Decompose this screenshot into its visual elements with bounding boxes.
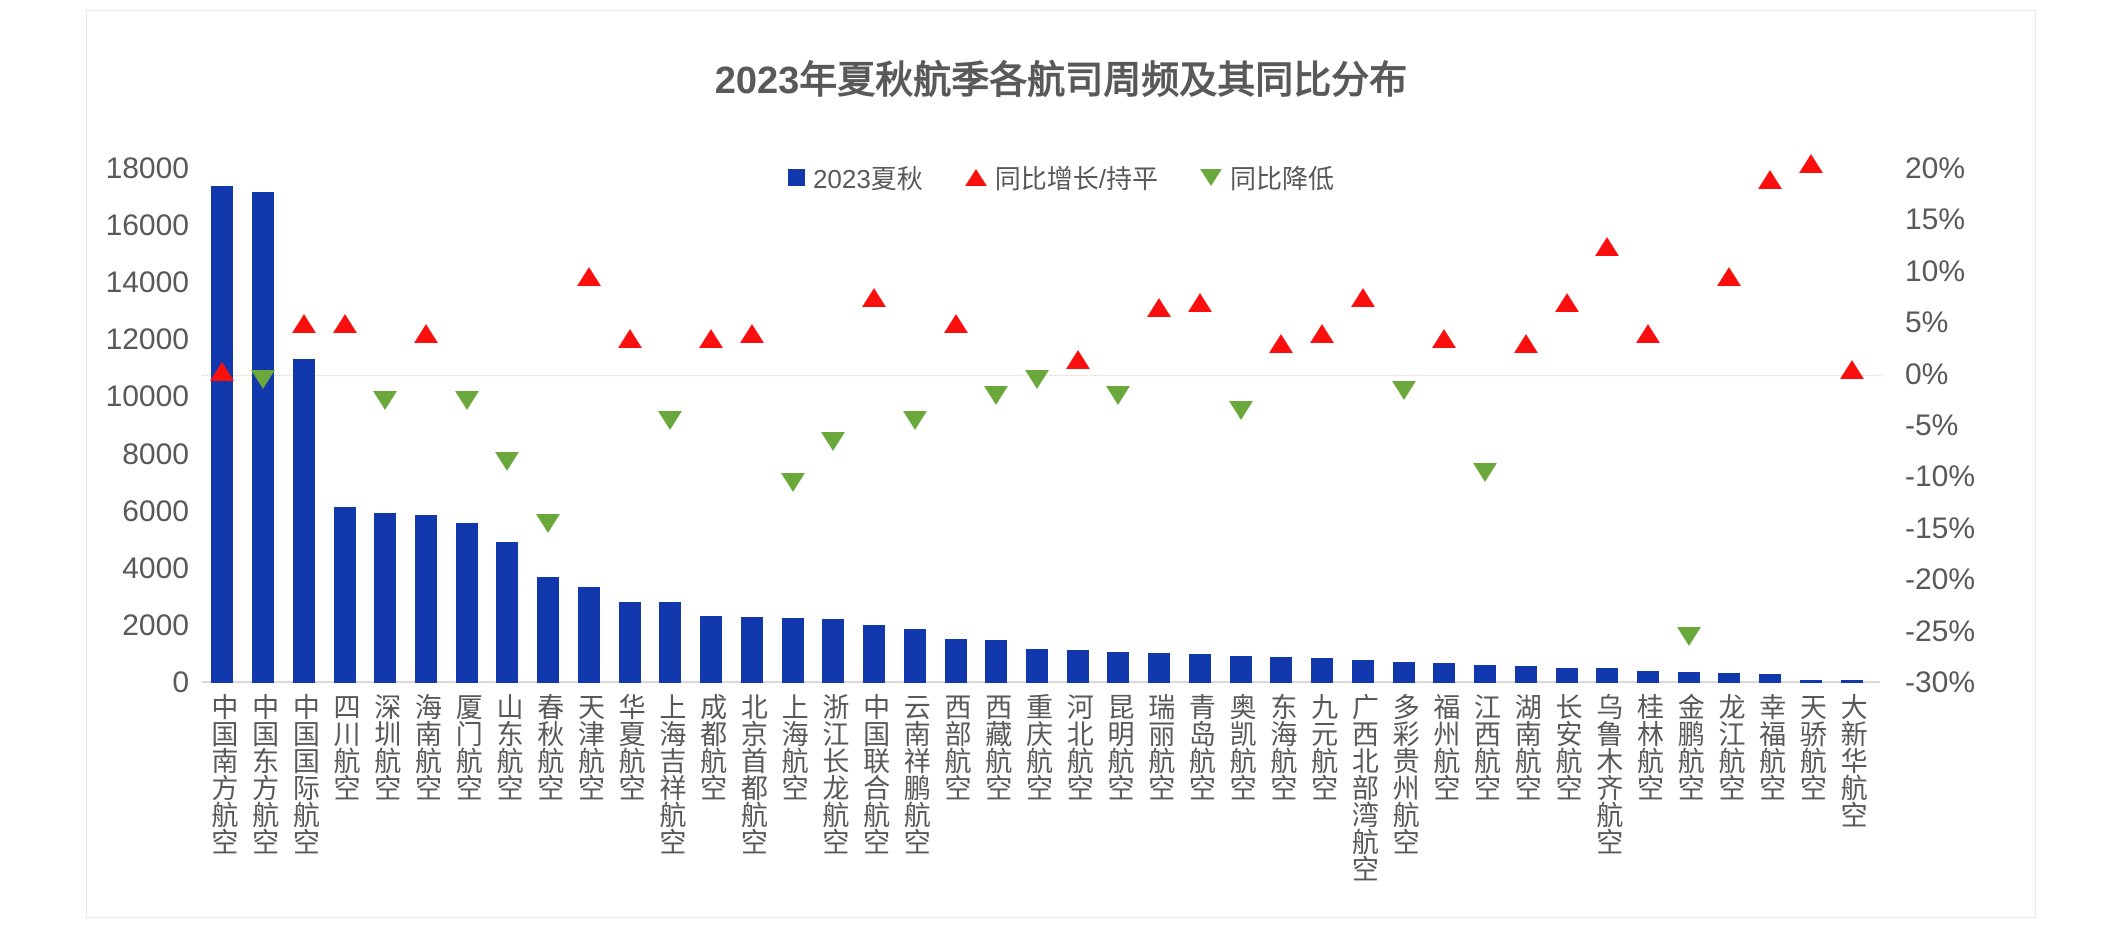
- x-axis-label: 长安航空: [1553, 693, 1580, 801]
- x-axis-label: 上海航空: [779, 693, 806, 801]
- plot-inner: [202, 169, 1872, 683]
- marker-increase[interactable]: [944, 314, 968, 333]
- y-axis-right-tick: -20%: [1905, 563, 1975, 597]
- bar[interactable]: [1800, 680, 1822, 683]
- marker-increase[interactable]: [1188, 293, 1212, 312]
- bar[interactable]: [1841, 680, 1863, 683]
- x-axis-label: 中国国际航空: [290, 693, 317, 855]
- marker-increase[interactable]: [1514, 334, 1538, 353]
- x-axis-label: 中国东方航空: [249, 693, 276, 855]
- y-axis-right-tick: -5%: [1905, 409, 1958, 443]
- marker-increase[interactable]: [1840, 360, 1864, 379]
- x-axis-label: 深圳航空: [371, 693, 398, 801]
- y-axis-right-tick: 15%: [1905, 203, 1965, 237]
- y-axis-right-tick: -30%: [1905, 666, 1975, 700]
- y-axis-left: 1800016000140001200010000800060004000200…: [87, 169, 195, 683]
- marker-decrease[interactable]: [455, 391, 479, 410]
- x-axis-label: 天骄航空: [1797, 693, 1824, 801]
- x-axis-label: 龙江航空: [1715, 693, 1742, 801]
- marker-increase[interactable]: [1066, 350, 1090, 369]
- bar[interactable]: [415, 515, 437, 683]
- x-axis-label: 成都航空: [697, 693, 724, 801]
- x-axis-label: 云南祥鹏航空: [901, 693, 928, 855]
- marker-decrease[interactable]: [658, 411, 682, 430]
- x-axis-label: 乌鲁木齐航空: [1593, 693, 1620, 855]
- bar[interactable]: [782, 618, 804, 683]
- x-axis-label: 幸福航空: [1756, 693, 1783, 801]
- bar[interactable]: [456, 523, 478, 683]
- x-axis-label: 春秋航空: [534, 693, 561, 801]
- x-axis-label: 河北航空: [1064, 693, 1091, 801]
- bar[interactable]: [1107, 652, 1129, 683]
- bar[interactable]: [1311, 658, 1333, 683]
- x-axis-label: 东海航空: [1267, 693, 1294, 801]
- marker-decrease[interactable]: [536, 514, 560, 533]
- bar[interactable]: [700, 616, 722, 683]
- bar[interactable]: [1148, 653, 1170, 683]
- x-axis-label: 瑞丽航空: [1145, 693, 1172, 801]
- marker-decrease[interactable]: [373, 391, 397, 410]
- x-axis-label: 中国南方航空: [208, 693, 235, 855]
- y-axis-right-tick: -10%: [1905, 460, 1975, 494]
- bar[interactable]: [1515, 666, 1537, 683]
- marker-decrease[interactable]: [781, 473, 805, 492]
- bar[interactable]: [578, 587, 600, 683]
- marker-decrease[interactable]: [1025, 370, 1049, 389]
- marker-decrease[interactable]: [984, 386, 1008, 405]
- bar[interactable]: [1759, 674, 1781, 683]
- marker-increase[interactable]: [1432, 329, 1456, 348]
- x-axis-label: 广西北部湾航空: [1349, 693, 1376, 882]
- x-axis-label: 北京首都航空: [738, 693, 765, 855]
- bar[interactable]: [1352, 660, 1374, 683]
- marker-increase[interactable]: [1595, 237, 1619, 256]
- marker-increase[interactable]: [1269, 334, 1293, 353]
- x-axis-label: 大新华航空: [1838, 693, 1865, 828]
- x-axis-label: 多彩贵州航空: [1390, 693, 1417, 855]
- bar[interactable]: [904, 629, 926, 683]
- bar[interactable]: [741, 617, 763, 683]
- marker-increase[interactable]: [577, 267, 601, 286]
- bar[interactable]: [1189, 654, 1211, 683]
- x-axis-label: 福州航空: [1430, 693, 1457, 801]
- marker-increase[interactable]: [1717, 267, 1741, 286]
- x-axis-label: 桂林航空: [1634, 693, 1661, 801]
- bar[interactable]: [537, 577, 559, 683]
- bar[interactable]: [1393, 662, 1415, 683]
- x-axis-label: 四川航空: [331, 693, 358, 801]
- x-axis-label: 中国联合航空: [860, 693, 887, 855]
- marker-increase[interactable]: [1147, 298, 1171, 317]
- y-axis-left-tick: 2000: [122, 609, 189, 643]
- y-axis-left-tick: 12000: [106, 323, 189, 357]
- y-axis-right-tick: -25%: [1905, 615, 1975, 649]
- x-axis-label: 上海吉祥航空: [656, 693, 683, 855]
- bar[interactable]: [1556, 668, 1578, 683]
- y-axis-left-tick: 14000: [106, 266, 189, 300]
- x-axis-label: 天津航空: [575, 693, 602, 801]
- marker-increase[interactable]: [1758, 170, 1782, 189]
- bar[interactable]: [496, 542, 518, 683]
- bar[interactable]: [1596, 668, 1618, 683]
- x-axis-label: 浙江长龙航空: [819, 693, 846, 855]
- y-axis-right-tick: -15%: [1905, 512, 1975, 546]
- y-axis-left-tick: 10000: [106, 380, 189, 414]
- marker-increase[interactable]: [1636, 324, 1660, 343]
- y-axis-right-tick: 20%: [1905, 152, 1965, 186]
- x-axis-label: 青岛航空: [1186, 693, 1213, 801]
- marker-increase[interactable]: [1310, 324, 1334, 343]
- marker-decrease[interactable]: [1473, 463, 1497, 482]
- bar[interactable]: [1718, 673, 1740, 683]
- bar[interactable]: [985, 640, 1007, 683]
- marker-decrease[interactable]: [821, 432, 845, 451]
- bar[interactable]: [1067, 650, 1089, 683]
- marker-decrease[interactable]: [1677, 627, 1701, 646]
- chart-card: 2023年夏秋航季各航司周频及其同比分布 2023夏秋 同比增长/持平 同比降低…: [86, 10, 2036, 918]
- bar[interactable]: [619, 602, 641, 683]
- y-axis-left-tick: 8000: [122, 438, 189, 472]
- bar[interactable]: [1270, 657, 1292, 683]
- y-axis-right-tick: 5%: [1905, 306, 1948, 340]
- y-axis-left-tick: 18000: [106, 152, 189, 186]
- x-axis-label: 江西航空: [1471, 693, 1498, 801]
- marker-increase[interactable]: [862, 288, 886, 307]
- bar[interactable]: [211, 186, 233, 683]
- x-axis-label: 金鹏航空: [1675, 693, 1702, 801]
- x-axis-label: 九元航空: [1308, 693, 1335, 801]
- plot-area: [202, 169, 1872, 683]
- marker-decrease[interactable]: [1392, 381, 1416, 400]
- marker-increase[interactable]: [1555, 293, 1579, 312]
- bar[interactable]: [659, 602, 681, 683]
- y-axis-right: 20%15%10%5%0%-5%-10%-15%-20%-25%-30%: [1887, 169, 2027, 683]
- y-axis-left-tick: 4000: [122, 552, 189, 586]
- bar[interactable]: [1026, 649, 1048, 683]
- marker-increase[interactable]: [618, 329, 642, 348]
- marker-decrease[interactable]: [1229, 401, 1253, 420]
- marker-decrease[interactable]: [1106, 386, 1130, 405]
- bar[interactable]: [945, 639, 967, 683]
- bar[interactable]: [1474, 665, 1496, 683]
- x-axis-label: 海南航空: [412, 693, 439, 801]
- marker-increase[interactable]: [740, 324, 764, 343]
- bar[interactable]: [822, 619, 844, 683]
- bar[interactable]: [863, 625, 885, 683]
- marker-decrease[interactable]: [495, 452, 519, 471]
- bar[interactable]: [293, 359, 315, 683]
- marker-increase[interactable]: [699, 329, 723, 348]
- x-axis-label: 山东航空: [493, 693, 520, 801]
- chart-title: 2023年夏秋航季各航司周频及其同比分布: [87, 49, 2035, 104]
- x-axis-label: 华夏航空: [616, 693, 643, 801]
- bar[interactable]: [334, 507, 356, 683]
- x-axis-label: 昆明航空: [1104, 693, 1131, 801]
- x-axis-label: 西部航空: [942, 693, 969, 801]
- marker-increase[interactable]: [333, 314, 357, 333]
- y-axis-left-tick: 16000: [106, 209, 189, 243]
- bar[interactable]: [1433, 663, 1455, 683]
- x-axis-label: 重庆航空: [1023, 693, 1050, 801]
- bar[interactable]: [374, 513, 396, 683]
- bar[interactable]: [252, 192, 274, 683]
- marker-increase[interactable]: [1351, 288, 1375, 307]
- y-axis-left-tick: 6000: [122, 495, 189, 529]
- marker-increase[interactable]: [1799, 154, 1823, 173]
- x-axis-labels: 中国南方航空中国东方航空中国国际航空四川航空深圳航空海南航空厦门航空山东航空春秋…: [202, 693, 1872, 913]
- y-axis-right-tick: 10%: [1905, 255, 1965, 289]
- x-axis-label: 湖南航空: [1512, 693, 1539, 801]
- y-axis-right-tick: 0%: [1905, 358, 1948, 392]
- marker-increase[interactable]: [210, 362, 234, 381]
- marker-decrease[interactable]: [903, 411, 927, 430]
- x-axis-label: 厦门航空: [453, 693, 480, 801]
- x-axis-label: 奥凯航空: [1227, 693, 1254, 801]
- marker-increase[interactable]: [292, 314, 316, 333]
- x-axis-label: 西藏航空: [982, 693, 1009, 801]
- marker-increase[interactable]: [414, 324, 438, 343]
- marker-decrease[interactable]: [251, 370, 275, 389]
- bar[interactable]: [1678, 672, 1700, 683]
- y-axis-left-tick: 0: [172, 666, 189, 700]
- bar[interactable]: [1230, 656, 1252, 683]
- bar[interactable]: [1637, 671, 1659, 683]
